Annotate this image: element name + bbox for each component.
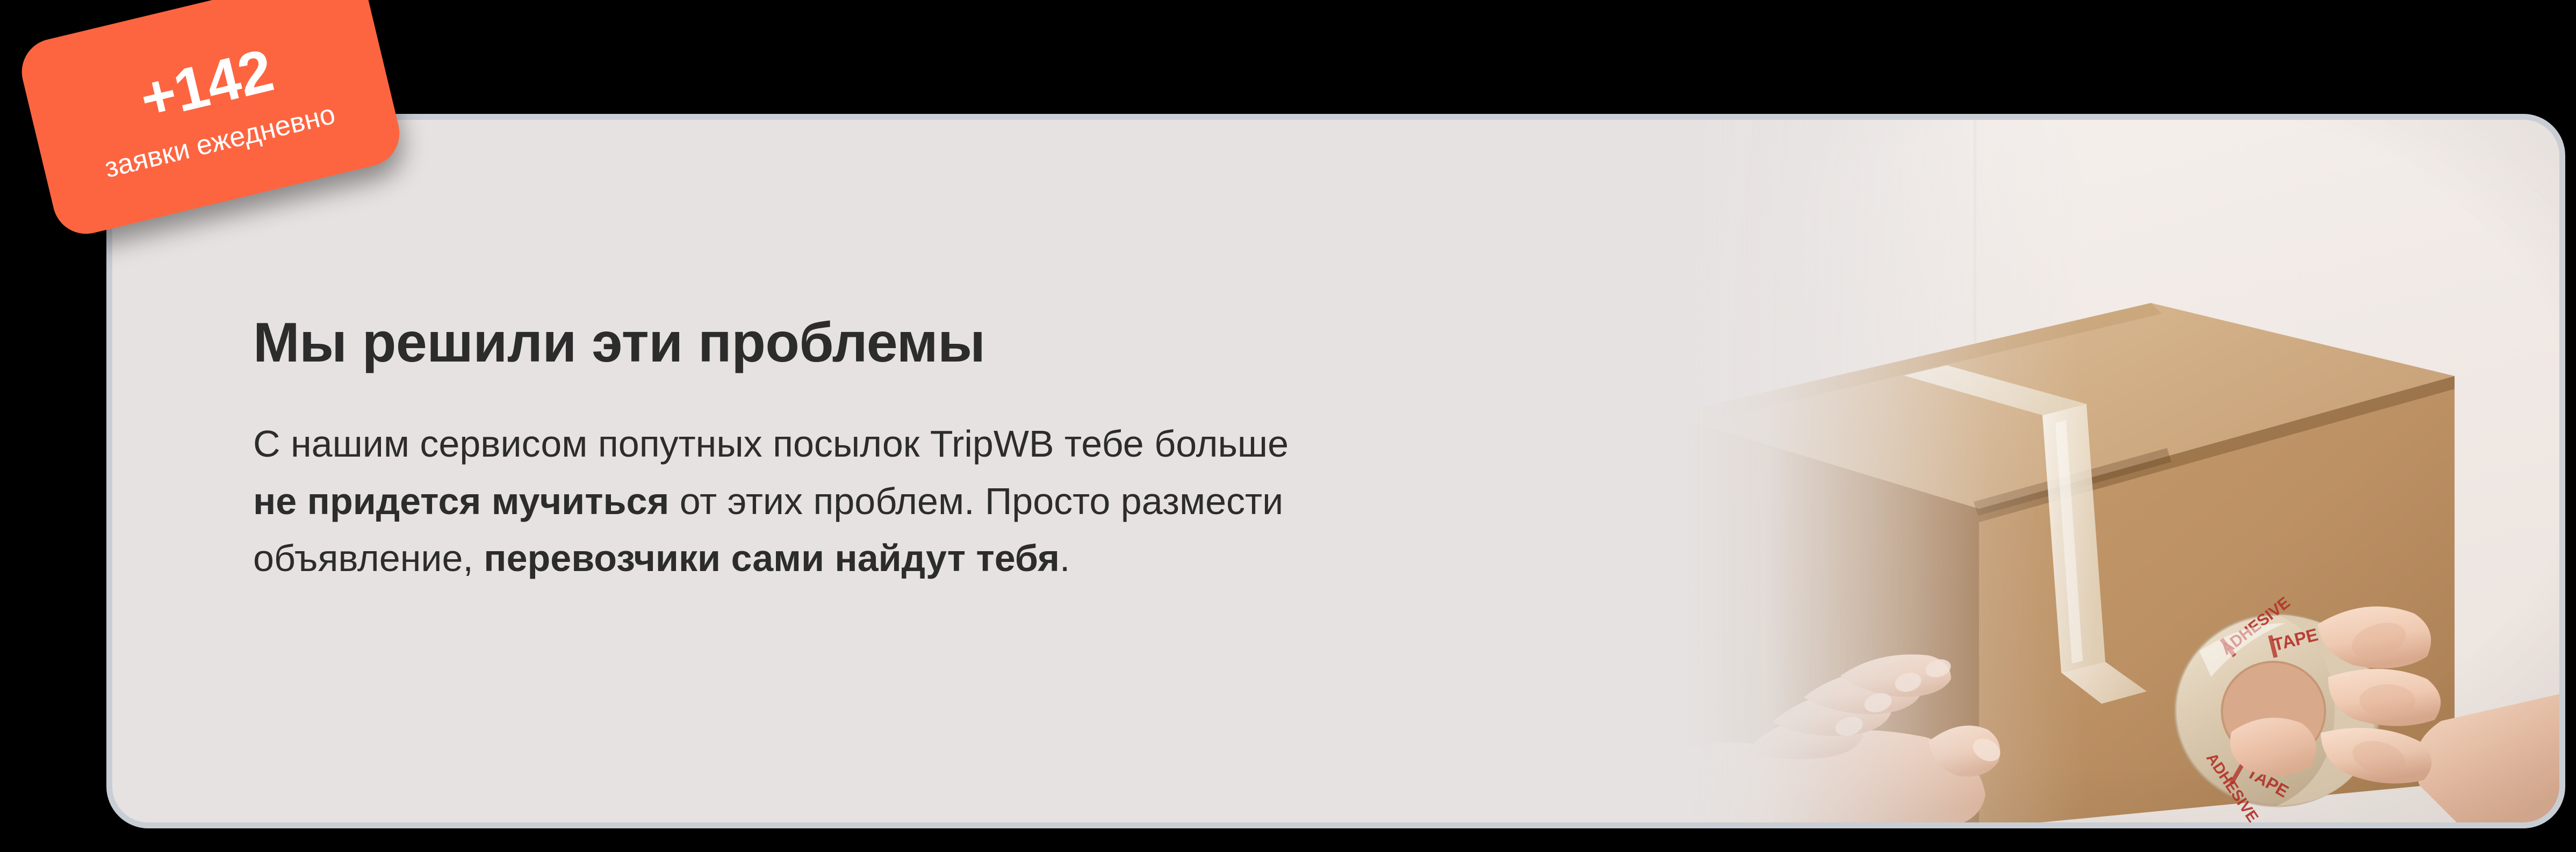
paragraph-span: .: [1060, 537, 1070, 579]
paragraph-span: объявление,: [253, 537, 484, 579]
page-title: Мы решили эти проблемы: [253, 312, 1629, 373]
paragraph-span: С нашим сервисом попутных посылок TripWB…: [253, 423, 1289, 465]
package-taping-illustration: ADHESIVE TAPE ADHESIVE TAPE: [1603, 120, 2559, 822]
paragraph-line-2: не придется мучиться от этих проблем. Пр…: [253, 473, 1629, 530]
paragraph-line-1: С нашим сервисом попутных посылок TripWB…: [253, 415, 1629, 472]
paragraph-line-3: объявление, перевозчики сами найдут тебя…: [253, 530, 1629, 587]
paragraph-span-bold: перевозчики сами найдут тебя: [484, 537, 1060, 579]
info-card: ADHESIVE TAPE ADHESIVE TAPE: [106, 114, 2565, 828]
paragraph-span-bold: не придется мучиться: [253, 480, 669, 522]
paragraph-span: от этих проблем. Просто размести: [669, 480, 1283, 522]
package-taping-photo: ADHESIVE TAPE ADHESIVE TAPE: [1603, 120, 2559, 822]
card-content: Мы решили эти проблемы С нашим сервисом …: [253, 312, 1629, 587]
body-paragraph: С нашим сервисом попутных посылок TripWB…: [253, 415, 1629, 587]
